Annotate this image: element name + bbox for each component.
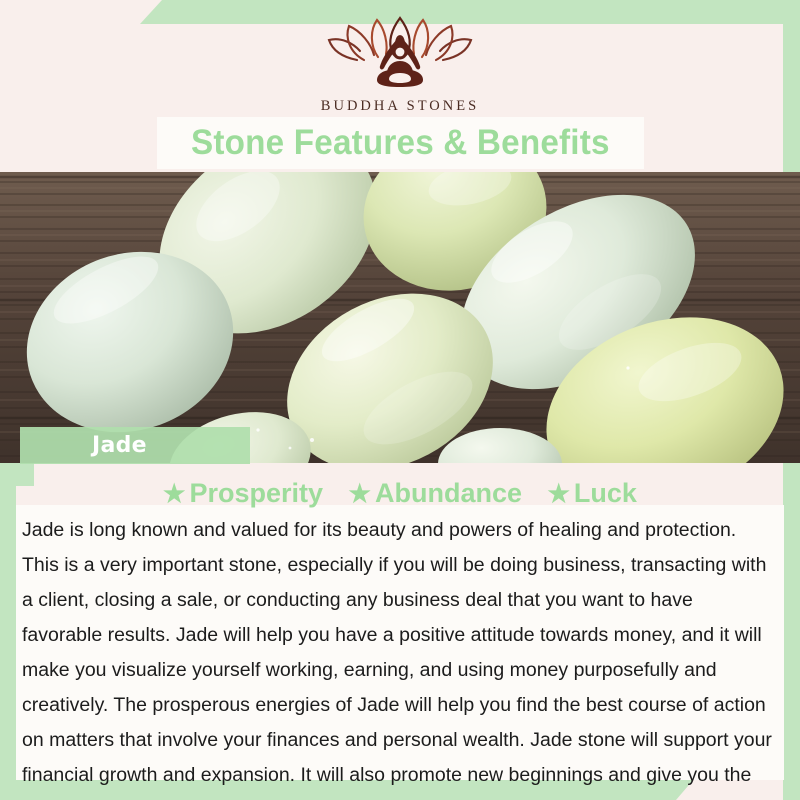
- keyword-item-2: ★Abundance: [349, 478, 522, 509]
- brand-wordmark: BUDDHA STONES: [321, 98, 479, 115]
- star-icon: ★: [163, 480, 185, 508]
- lotus-meditation-icon: [325, 16, 475, 93]
- keyword-label: Prosperity: [189, 478, 323, 508]
- keyword-label: Abundance: [375, 478, 522, 508]
- stone-info-card: BUDDHA STONES Stone Features & Benefits: [0, 0, 800, 800]
- keyword-row: ★Prosperity ★Abundance ★Luck: [0, 478, 800, 509]
- page-title: Stone Features & Benefits: [191, 123, 610, 163]
- stone-photo: [0, 172, 800, 463]
- star-icon: ★: [349, 480, 371, 508]
- description-panel: Jade is long known and valued for its be…: [16, 505, 784, 780]
- star-icon: ★: [548, 480, 570, 508]
- keyword-label: Luck: [574, 478, 637, 508]
- title-banner: Stone Features & Benefits: [157, 117, 644, 169]
- brand-logo: BUDDHA STONES: [0, 16, 800, 116]
- keyword-item-1: ★Prosperity: [163, 478, 323, 509]
- keyword-item-3: ★Luck: [548, 478, 637, 509]
- stone-name-badge: Jade: [20, 427, 250, 464]
- stone-name-label: Jade: [92, 433, 147, 458]
- description-text: Jade is long known and valued for its be…: [18, 513, 778, 800]
